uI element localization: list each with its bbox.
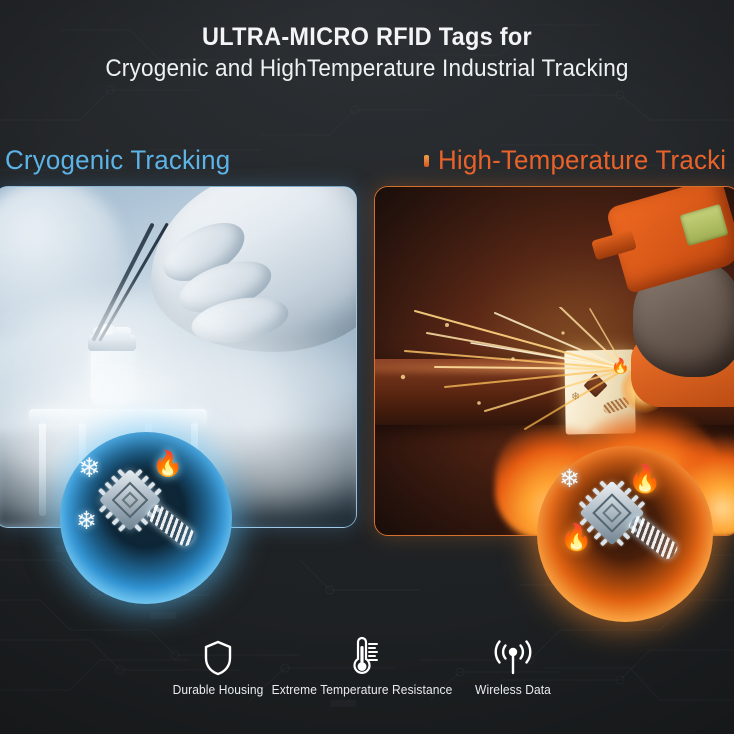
tag-flame-icon: 🔥: [611, 359, 630, 374]
snowflake-icon: ❄: [76, 509, 97, 534]
feature-label: Extreme Temperature Resistance: [254, 683, 469, 697]
feature-list: Durable Housing Extreme Temperature Resi…: [0, 636, 734, 716]
flame-icon: 🔥: [628, 466, 662, 493]
snowflake-icon: ❄: [559, 467, 580, 492]
chip-core: [592, 493, 632, 533]
snowflake-icon: ❄: [78, 455, 101, 482]
feature-wireless-data[interactable]: Wireless Data: [443, 636, 583, 697]
page-title: ULTRA-MICRO RFID Tags for Cryogenic and …: [0, 22, 734, 84]
title-line-1: ULTRA-MICRO RFID Tags for: [22, 22, 712, 52]
high-temperature-heading-label: High-Temperature Tracki: [438, 145, 726, 176]
high-temperature-section-heading: High-Temperature Tracki: [424, 145, 734, 176]
flame-icon: 🔥: [152, 452, 183, 477]
title-line-2: Cryogenic and HighTemperature Industrial…: [22, 54, 712, 84]
bullet-marker-icon: [424, 155, 429, 167]
feature-label: Wireless Data: [446, 683, 580, 697]
chip-inner-core: [122, 492, 139, 509]
feature-extreme-temperature-resistance[interactable]: Extreme Temperature Resistance: [250, 636, 474, 697]
cryogenic-section-heading: Cryogenic Tracking: [5, 145, 230, 176]
chip-inner-core: [602, 503, 622, 523]
thermometer-icon: [250, 636, 474, 676]
tag-snowflake-icon: ❄: [571, 392, 580, 403]
chip-core: [112, 482, 149, 519]
wireless-signal-icon: [443, 636, 583, 676]
